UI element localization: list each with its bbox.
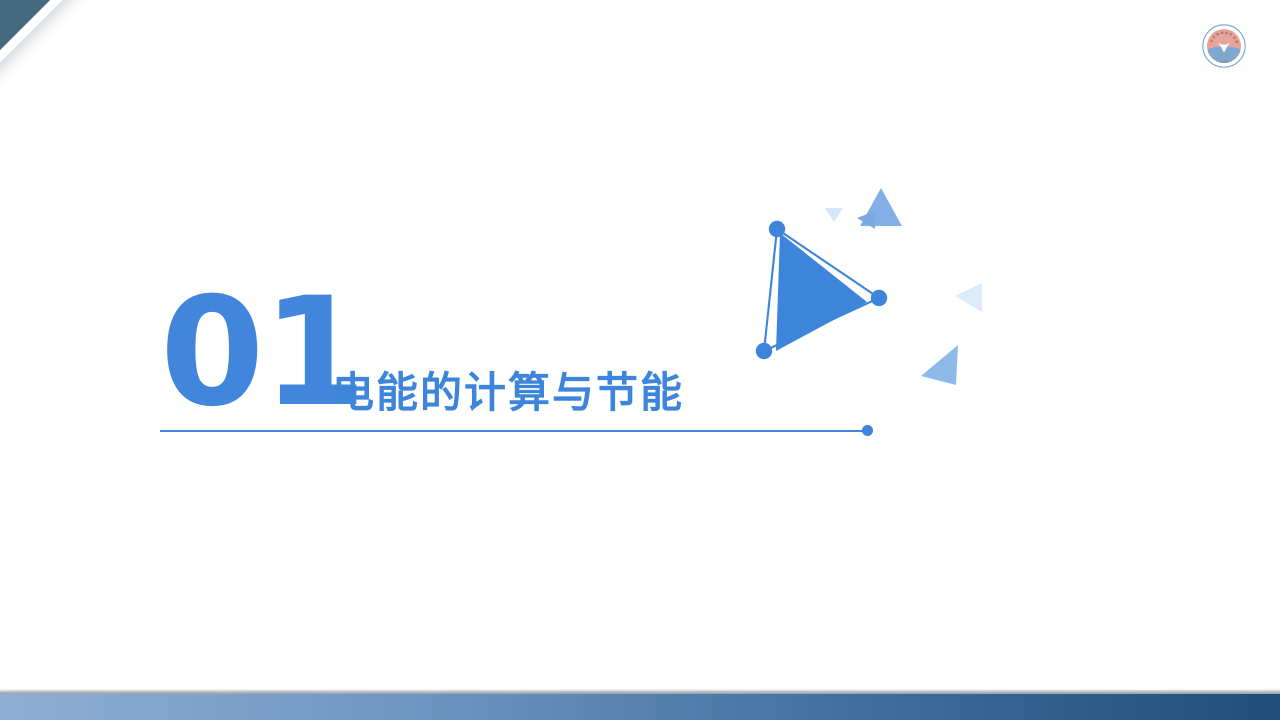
triangle-graphic	[730, 175, 1020, 415]
decor-square-dark	[0, 0, 77, 69]
school-logo: 中学物理课件资源网 1958	[1198, 20, 1250, 72]
title-underline-end-dot	[862, 425, 873, 436]
school-emblem-icon: 中学物理课件资源网 1958	[1198, 20, 1250, 72]
section-title: 电能的计算与节能	[332, 372, 684, 414]
node-dot-right-icon	[871, 290, 887, 306]
triangle-decoration-cluster	[730, 175, 1020, 415]
outline-triangle-icon	[764, 229, 879, 351]
decor-square-white	[0, 0, 90, 82]
node-dot-top-icon	[769, 221, 785, 237]
node-dot-bottom-icon	[756, 343, 772, 359]
decor-square-shadow	[0, 0, 91, 87]
top-left-decoration	[0, 0, 134, 126]
small-triangle-mid-up-icon	[860, 188, 902, 226]
small-triangle-left-arrow-icon	[857, 211, 875, 229]
small-triangle-lower-right-icon	[921, 345, 958, 385]
small-triangle-pale-down-icon	[825, 208, 843, 222]
main-filled-triangle-icon	[776, 233, 867, 351]
small-triangle-pale-left-icon	[955, 283, 982, 312]
footer-gradient-bar	[0, 694, 1280, 720]
logo-year-text: 1958	[1220, 60, 1228, 64]
slide-canvas: 中学物理课件资源网 1958 01 电能的计算与节能	[0, 0, 1280, 720]
title-underline-rule	[160, 430, 868, 432]
